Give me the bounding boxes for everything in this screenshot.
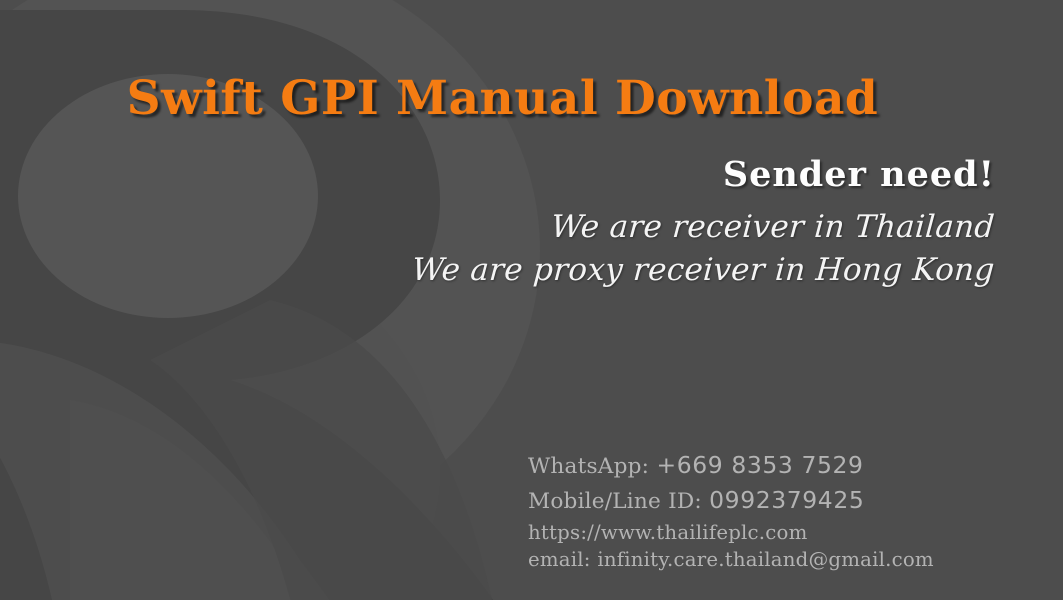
contact-line-website[interactable]: https://www.thailifeplc.com: [528, 519, 934, 547]
contact-label-whatsapp: WhatsApp:: [528, 454, 649, 479]
contact-label-email: email:: [528, 548, 591, 571]
script-lines-block: We are receiver in Thailand We are proxy…: [412, 206, 995, 292]
contact-value-email[interactable]: infinity.care.thailand@gmail.com: [597, 548, 934, 571]
script-line-receiver-thailand: We are receiver in Thailand: [411, 206, 997, 249]
title-block: Swift GPI Manual Download: [0, 74, 1005, 123]
contact-value-whatsapp[interactable]: +669 8353 7529: [656, 451, 863, 479]
script-line-proxy-hongkong: We are proxy receiver in Hong Kong: [411, 249, 997, 292]
page-title: Swift GPI Manual Download: [0, 74, 1005, 123]
subtitle-sender-need: Sender need!: [723, 154, 995, 195]
contact-value-mobile-line-id[interactable]: 0992379425: [709, 486, 864, 514]
slide-canvas: Swift GPI Manual Download Sender need! W…: [0, 0, 1063, 600]
contact-block: WhatsApp: +669 8353 7529 Mobile/Line ID:…: [528, 448, 934, 574]
contact-line-email: email: infinity.care.thailand@gmail.com: [528, 546, 934, 574]
contact-value-website[interactable]: https://www.thailifeplc.com: [528, 521, 808, 544]
contact-line-whatsapp: WhatsApp: +669 8353 7529: [528, 448, 934, 483]
contact-label-mobile-line-id: Mobile/Line ID:: [528, 489, 702, 514]
contact-line-mobile-line-id: Mobile/Line ID: 0992379425: [528, 483, 934, 518]
